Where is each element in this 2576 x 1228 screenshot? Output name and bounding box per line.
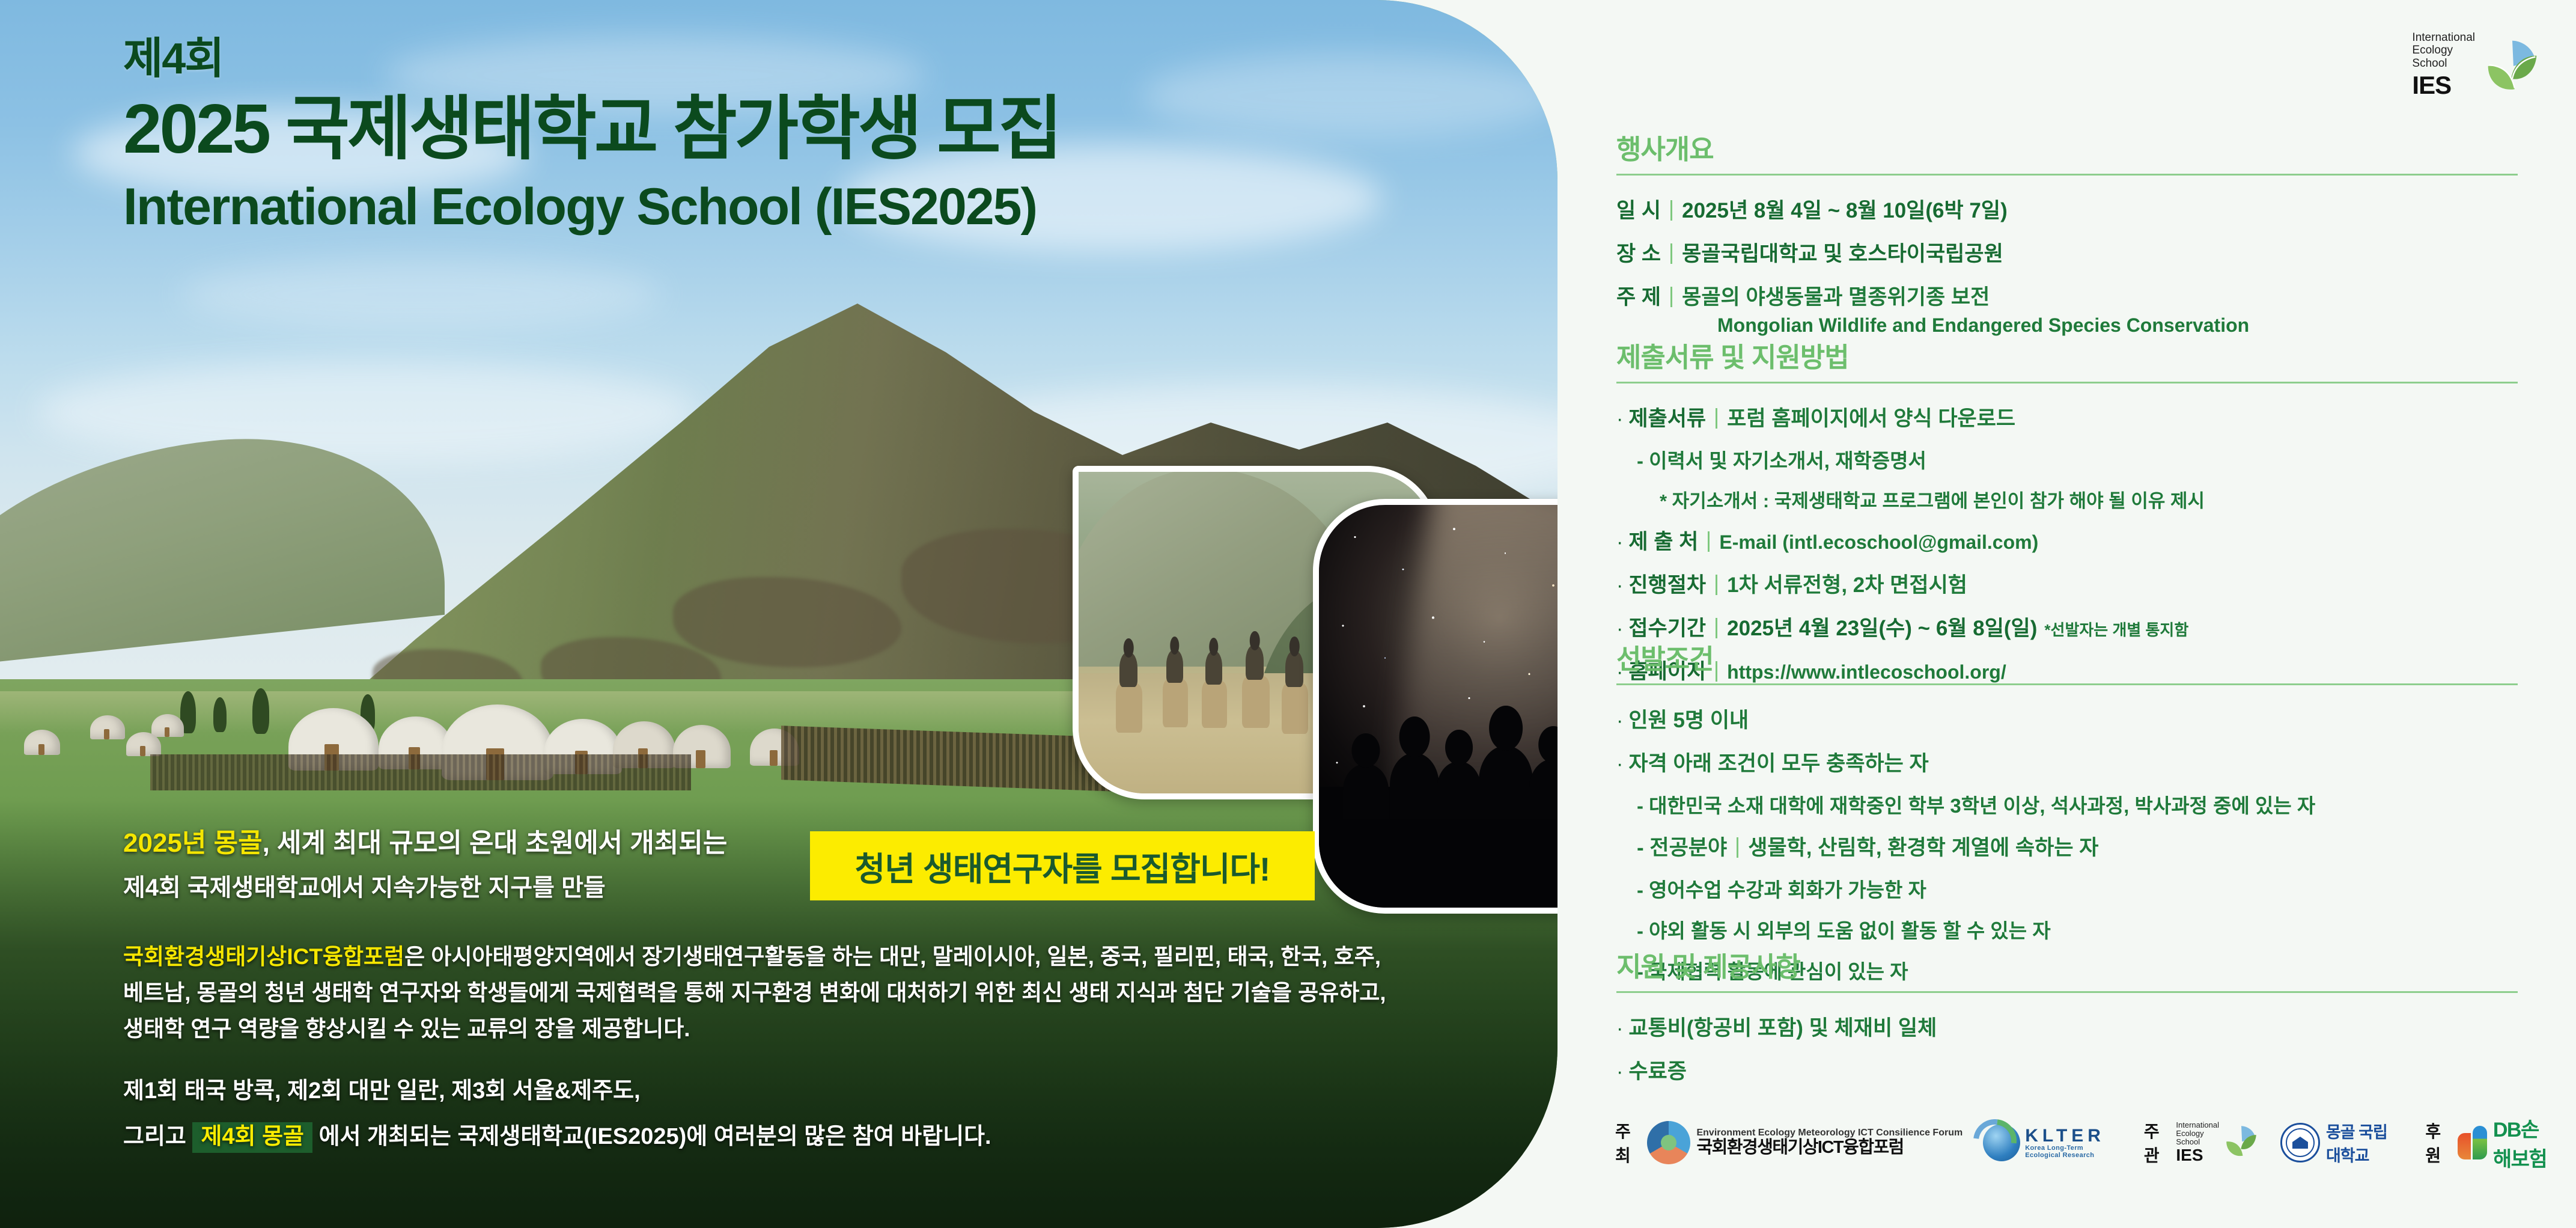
apply-label-process: 진행절차	[1628, 568, 1706, 599]
horse	[1163, 679, 1188, 727]
apply-value-process: 1차 서류전형, 2차 면접시험	[1727, 568, 1967, 599]
criteria-row-major: - 전공분야 생물학, 산림학, 환경학 계열에 속하는 자	[1637, 831, 2530, 861]
klter-logo-name: KLTER	[2025, 1126, 2108, 1146]
label-separator	[1716, 408, 1717, 429]
bullet-dot-icon: ·	[1616, 710, 1623, 731]
klter-logo-text: KLTER Korea Long-Term Ecological Researc…	[2025, 1126, 2108, 1159]
footer-logos: 주최 Environment Ecology Meteorology ICT C…	[1615, 1113, 2576, 1172]
headline-edition: 제4회	[123, 37, 1060, 81]
closing-line-2: 그리고 제4회 몽골 에서 개최되는 국제생태학교(IES2025)에 여러분의…	[123, 1119, 1403, 1156]
university-seal-icon	[2280, 1123, 2320, 1162]
ies-footer-abbr: IES	[2176, 1146, 2219, 1164]
bullet-dot-icon: ·	[1616, 409, 1623, 429]
overview-theme-english: Mongolian Wildlife and Endangered Specie…	[1717, 314, 2530, 337]
page-title-english: International Ecology School (IES2025)	[123, 176, 1060, 238]
section-divider	[1616, 174, 2518, 176]
section-support: 지원 및 제공사항 · 교통비(항공비 포함) 및 체재비 일체 · 수료증	[1616, 945, 2530, 1098]
klter-logo-sub: Korea Long-Term Ecological Research	[2025, 1145, 2108, 1159]
section-support-body: · 교통비(항공비 포함) 및 체재비 일체 · 수료증	[1616, 1011, 2530, 1085]
label-separator	[1737, 837, 1738, 858]
footer-label-organizer: 주관	[2144, 1119, 2166, 1167]
apply-label-submit-to: 제 출 처	[1628, 525, 1698, 555]
criteria-text-quota: 인원 5명 이내	[1628, 703, 1749, 734]
footer-label-host: 주최	[1615, 1119, 1637, 1167]
headline-block: 제4회 2025 국제생태학교 참가학생 모집 International Ec…	[123, 37, 1060, 238]
criteria-value-major: 생물학, 산림학, 환경학 계열에 속하는 자	[1748, 831, 2098, 861]
bullet-dot-icon: ·	[1616, 1062, 1623, 1082]
ies-logo: International Ecology School IES	[2412, 31, 2541, 99]
info-panel: International Ecology School IES 행사개요	[1557, 0, 2576, 1228]
globe-icon	[1983, 1124, 2020, 1161]
building-icon	[2292, 1137, 2308, 1149]
logo-mongolia-national-university: 몽골 국립대학교	[2280, 1119, 2389, 1166]
swoosh-icon	[1965, 1110, 2026, 1171]
rider	[1119, 652, 1137, 687]
cloud	[180, 258, 661, 331]
rider	[1285, 651, 1303, 687]
forum-logo-text: Environment Ecology Meteorology ICT Cons…	[1696, 1128, 1962, 1157]
apply-row-documents: · 제출서류 포럼 홈페이지에서 양식 다운로드	[1616, 402, 2530, 432]
bullet-dot-icon: ·	[1616, 532, 1623, 552]
ies-logo-abbr: IES	[2412, 71, 2475, 99]
person-silhouette	[1479, 746, 1533, 819]
ies-logo-line-2: Ecology	[2412, 44, 2475, 57]
apply-label-documents: 제출서류	[1628, 402, 1706, 432]
recruit-banner: 청년 생태연구자를 모집합니다!	[810, 831, 1315, 900]
horse	[1202, 681, 1227, 728]
ies-footer-text: International Ecology School IES	[2176, 1121, 2219, 1164]
page-title: 2025 국제생태학교 참가학생 모집	[123, 88, 1060, 170]
criteria-item-quota: · 인원 5명 이내	[1616, 703, 2530, 734]
logo-national-assembly-forum: Environment Ecology Meteorology ICT Cons…	[1647, 1121, 1962, 1164]
ies-footer-line-2: Ecology	[2176, 1129, 2219, 1138]
closing-post: 에서 개최되는 국제생태학교(IES2025)에 여러분의 많은 참여 바랍니다…	[319, 1124, 991, 1149]
apply-row-process: · 진행절차 1차 서류전형, 2차 면접시험	[1616, 568, 2530, 599]
tree	[213, 697, 227, 732]
ies-footer-line-1: International	[2176, 1121, 2219, 1129]
leaf-globe-icon	[2483, 36, 2541, 94]
label-separator	[1670, 200, 1672, 221]
section-apply-title: 제출서류 및 지원방법	[1616, 335, 2530, 374]
section-criteria-title: 선발조건	[1616, 637, 2530, 676]
recruit-banner-text: 청년 생태연구자를 모집합니다!	[855, 842, 1270, 890]
bullet-dot-icon: ·	[1616, 575, 1623, 596]
closing-paragraph: 제1회 태국 방콕, 제2회 대만 일란, 제3회 서울&제주도, 그리고 제4…	[123, 1073, 1403, 1155]
support-text-certificate: 수료증	[1628, 1054, 1687, 1085]
section-criteria: 선발조건 · 인원 5명 이내 · 자격 아래 조건이 모두 충족하는 자 - …	[1616, 637, 2530, 997]
logo-db-insurance: DB손해보험	[2458, 1113, 2556, 1172]
rider	[1246, 645, 1264, 680]
support-text-travel: 교통비(항공비 포함) 및 체재비 일체	[1628, 1011, 1937, 1042]
forum-circle-icon	[1647, 1121, 1690, 1164]
tagline-highlight: 2025년 몽골	[123, 828, 263, 858]
label-separator	[1670, 287, 1672, 307]
poster-root: 제4회 2025 국제생태학교 참가학생 모집 International Ec…	[0, 0, 2576, 1228]
overview-row-date: 일 시 2025년 8월 4일 ~ 8월 10일(6박 7일)	[1616, 194, 2530, 224]
tagline-rest: , 세계 최대 규모의 온대 초원에서 개최되는	[263, 828, 728, 858]
overview-value-place: 몽골국립대학교 및 호스타이국립공원	[1682, 237, 2003, 267]
label-separator	[1716, 575, 1717, 595]
section-overview: 행사개요 일 시 2025년 8월 4일 ~ 8월 10일(6박 7일) 장 소…	[1616, 127, 2530, 337]
criteria-dash-fieldwork: - 야외 활동 시 외부의 도움 없이 활동 할 수 있는 자	[1637, 915, 2530, 944]
apply-dash-documents-list: - 이력서 및 자기소개서, 재학증명서	[1637, 445, 2530, 474]
body-paragraph-highlight: 국회환경생태기상ICT융합포럼	[123, 944, 404, 969]
criteria-text-eligibility: 자격 아래 조건이 모두 충족하는 자	[1628, 747, 1928, 777]
person-silhouette	[1390, 753, 1439, 819]
overview-label-theme: 주 제	[1616, 280, 1661, 311]
logo-klter: KLTER Korea Long-Term Ecological Researc…	[1983, 1124, 2108, 1161]
rider	[1205, 651, 1222, 685]
wooden-fence	[150, 754, 691, 790]
criteria-dash-english: - 영어수업 수강과 회화가 가능한 자	[1637, 874, 2530, 903]
overview-row-theme: 주 제 몽골의 야생동물과 멸종위기종 보전	[1616, 280, 2530, 311]
leaf-globe-icon	[2223, 1122, 2260, 1162]
ies-logo-line-1: International	[2412, 31, 2475, 44]
horse	[1242, 676, 1270, 728]
label-separator	[1708, 531, 1710, 552]
support-item-certificate: · 수료증	[1616, 1054, 2530, 1085]
apply-value-documents: 포럼 홈페이지에서 양식 다운로드	[1727, 402, 2015, 432]
ies-logo-text: International Ecology School IES	[2412, 31, 2475, 99]
apply-note-self-intro: * 자기소개서 : 국제생태학교 프로그램에 본인이 참가 해야 될 이유 제시	[1660, 486, 2530, 513]
forum-logo-en: Environment Ecology Meteorology ICT Cons…	[1696, 1128, 1962, 1138]
footer-label-sponsor: 후원	[2425, 1119, 2447, 1167]
section-criteria-body: · 인원 5명 이내 · 자격 아래 조건이 모두 충족하는 자 - 대한민국 …	[1616, 703, 2530, 985]
section-overview-title: 행사개요	[1616, 127, 2530, 166]
criteria-label-major: - 전공분야	[1637, 831, 1727, 861]
label-separator	[1716, 618, 1717, 638]
horse	[1282, 683, 1308, 734]
horse	[1116, 683, 1142, 733]
section-overview-body: 일 시 2025년 8월 4일 ~ 8월 10일(6박 7일) 장 소 몽골국립…	[1616, 194, 2530, 337]
closing-line-1: 제1회 태국 방콕, 제2회 대만 일란, 제3회 서울&제주도,	[123, 1073, 1403, 1110]
label-separator	[1670, 243, 1672, 264]
section-divider	[1616, 683, 2518, 685]
db-logo-name: DB손해보험	[2493, 1113, 2556, 1172]
cloud	[1142, 54, 1557, 138]
person-silhouette	[1437, 762, 1481, 819]
section-support-title: 지원 및 제공사항	[1616, 945, 2530, 984]
db-mark-icon	[2458, 1126, 2487, 1159]
overview-label-place: 장 소	[1616, 237, 1661, 267]
apply-value-submit-to[interactable]: E-mail (intl.ecoschool@gmail.com)	[1719, 531, 2038, 554]
person-silhouette	[1343, 764, 1389, 819]
bullet-dot-icon: ·	[1616, 1018, 1623, 1039]
tree	[252, 688, 269, 734]
bullet-dot-icon: ·	[1616, 754, 1623, 774]
mnu-logo-name: 몽골 국립대학교	[2326, 1119, 2389, 1166]
bullet-dot-icon: ·	[1616, 619, 1623, 639]
overview-value-date: 2025년 8월 4일 ~ 8월 10일(6박 7일)	[1682, 194, 2008, 224]
db-bar-orange	[2458, 1133, 2471, 1159]
closing-pre: 그리고	[123, 1124, 186, 1149]
cloud	[36, 361, 697, 463]
logo-ies-footer: International Ecology School IES	[2176, 1121, 2260, 1164]
ies-footer-line-3: School	[2176, 1138, 2219, 1146]
section-divider	[1616, 991, 2518, 993]
forum-logo-ko: 국회환경생태기상ICT융합포럼	[1696, 1138, 1962, 1158]
criteria-item-eligibility: · 자격 아래 조건이 모두 충족하는 자	[1616, 747, 2530, 777]
overview-row-place: 장 소 몽골국립대학교 및 호스타이국립공원	[1616, 237, 2530, 267]
hero-photo-panel: 제4회 2025 국제생태학교 참가학생 모집 International Ec…	[0, 0, 1557, 1228]
support-item-travel: · 교통비(항공비 포함) 및 체재비 일체	[1616, 1011, 2530, 1042]
apply-row-submit-to: · 제 출 처 E-mail (intl.ecoschool@gmail.com…	[1616, 525, 2530, 555]
closing-highlight: 제4회 몽골	[192, 1122, 312, 1153]
section-divider	[1616, 382, 2518, 383]
db-bar-blue-green	[2473, 1126, 2487, 1159]
criteria-dash-student-status: - 대한민국 소재 대학에 재학중인 학부 3학년 이상, 석사과정, 박사과정…	[1637, 790, 2530, 819]
overview-label-date: 일 시	[1616, 194, 1661, 224]
rider	[1166, 650, 1183, 683]
ies-logo-line-3: School	[2412, 57, 2475, 70]
overview-value-theme: 몽골의 야생동물과 멸종위기종 보전	[1682, 280, 1990, 311]
body-paragraph: 국회환경생태기상ICT융합포럼은 아시아태평양지역에서 장기생태연구활동을 하는…	[123, 939, 1403, 1047]
